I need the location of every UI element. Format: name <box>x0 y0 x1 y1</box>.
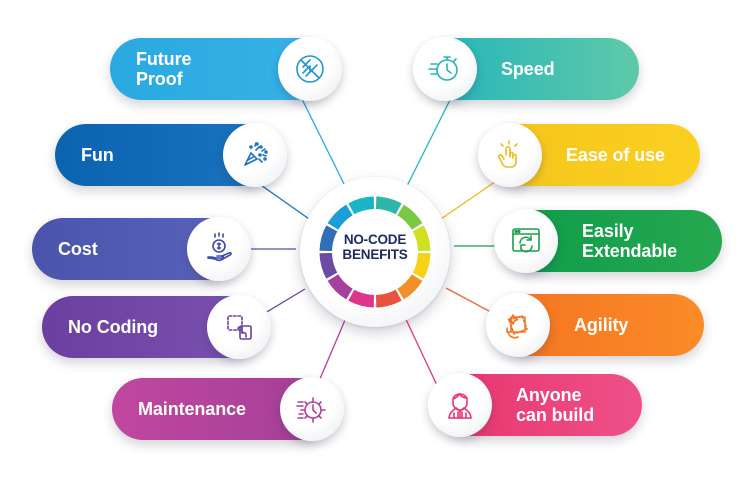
benefit-label-agility: Agility <box>574 315 628 335</box>
drag-drop-icon <box>219 307 259 347</box>
benefit-pill-easily-extendable[interactable]: Easily Extendable <box>508 210 722 272</box>
hub-title-line1: NO-CODE <box>315 232 435 247</box>
benefit-pill-no-coding[interactable]: No Coding <box>42 296 257 358</box>
benefit-pill-ease-of-use[interactable]: Ease of use <box>492 124 700 186</box>
benefit-label-cost: Cost <box>58 239 98 259</box>
benefit-pill-fun[interactable]: Fun <box>55 124 273 186</box>
benefit-icon-badge-speed[interactable] <box>413 37 477 101</box>
benefit-pill-speed[interactable]: Speed <box>427 38 639 100</box>
benefit-label-speed: Speed <box>501 59 555 79</box>
agile-shapes-icon <box>498 305 538 345</box>
benefit-label-ease-of-use: Ease of use <box>566 145 665 165</box>
future-proof-icon <box>290 49 330 89</box>
benefit-icon-badge-ease-of-use[interactable] <box>478 123 542 187</box>
benefit-label-maintenance: Maintenance <box>138 399 246 419</box>
benefit-pill-maintenance[interactable]: Maintenance <box>112 378 330 440</box>
infographic-canvas: Future Proof Fun Cost N <box>0 0 750 500</box>
browser-refresh-icon <box>506 221 546 261</box>
benefit-label-anyone-can-build: Anyone can build <box>516 385 594 425</box>
hub-title-line2: BENEFITS <box>315 247 435 262</box>
clock-gear-icon <box>292 389 332 429</box>
benefit-label-fun: Fun <box>81 145 114 165</box>
tap-hand-icon <box>490 135 530 175</box>
benefit-label-future-proof: Future Proof <box>136 49 191 89</box>
hub-title: NO-CODE BENEFITS <box>315 232 435 262</box>
benefit-icon-badge-fun[interactable] <box>223 123 287 187</box>
benefit-label-no-coding: No Coding <box>68 317 158 337</box>
benefit-pill-cost[interactable]: Cost <box>32 218 237 280</box>
party-popper-icon <box>235 135 275 175</box>
benefit-pill-agility[interactable]: Agility <box>500 294 704 356</box>
benefit-icon-badge-maintenance[interactable] <box>280 377 344 441</box>
center-hub: NO-CODE BENEFITS <box>287 176 463 328</box>
benefit-pill-future-proof[interactable]: Future Proof <box>110 38 328 100</box>
benefit-icon-badge-no-coding[interactable] <box>207 295 271 359</box>
hand-holding-coin-icon <box>199 229 239 269</box>
benefit-icon-badge-easily-extendable[interactable] <box>494 209 558 273</box>
benefit-icon-badge-anyone-can-build[interactable] <box>428 373 492 437</box>
benefit-pill-anyone-can-build[interactable]: Anyone can build <box>442 374 642 436</box>
benefit-icon-badge-future-proof[interactable] <box>278 37 342 101</box>
stopwatch-icon <box>425 49 465 89</box>
benefit-icon-badge-cost[interactable] <box>187 217 251 281</box>
benefit-label-easily-extendable: Easily Extendable <box>582 221 677 261</box>
benefit-icon-badge-agility[interactable] <box>486 293 550 357</box>
person-icon <box>440 385 480 425</box>
